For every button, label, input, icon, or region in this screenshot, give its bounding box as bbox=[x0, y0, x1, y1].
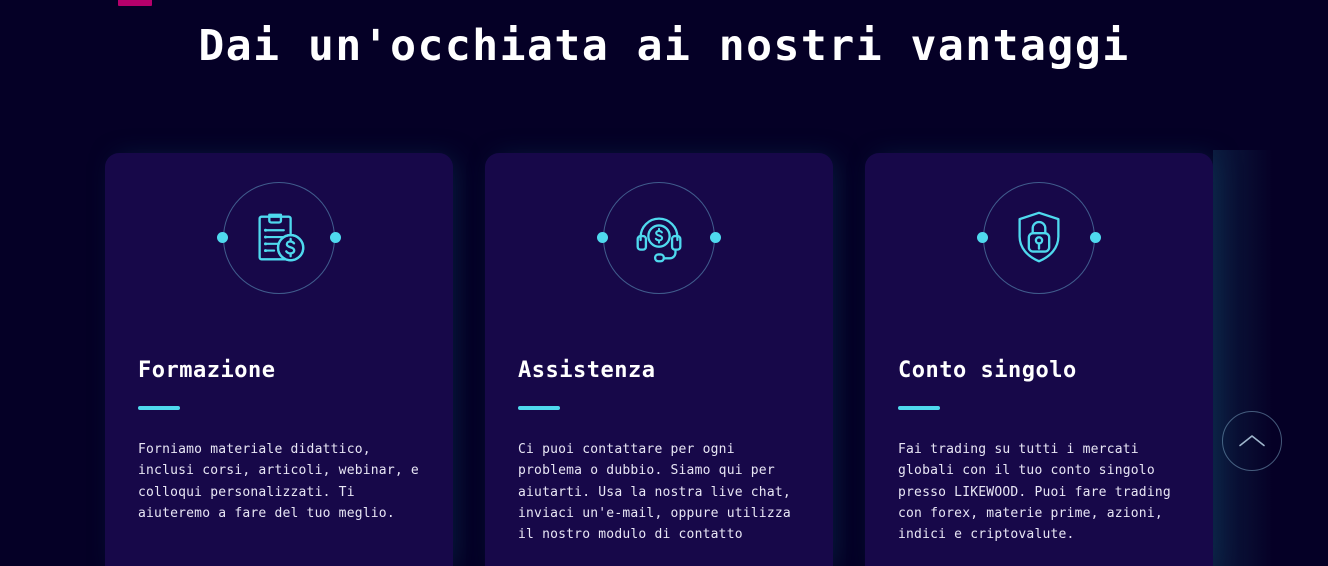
card-title: Conto singolo bbox=[898, 357, 1180, 385]
benefit-card-formazione[interactable]: Formazione Forniamo materiale didattico,… bbox=[105, 153, 453, 566]
ring-dot-right bbox=[710, 232, 721, 243]
benefit-card-conto-singolo[interactable]: Conto singolo Fai trading su tutti i mer… bbox=[865, 153, 1213, 566]
benefits-card-row: Formazione Forniamo materiale didattico,… bbox=[105, 153, 1215, 566]
ring-dot-left bbox=[217, 232, 228, 243]
card-body-text: Forniamo materiale didattico, inclusi co… bbox=[138, 439, 424, 524]
edge-glow bbox=[1213, 150, 1273, 566]
card-body-text: Ci puoi contattare per ogni problema o d… bbox=[518, 439, 804, 545]
document-dollar-icon bbox=[248, 207, 310, 269]
shield-lock-icon bbox=[1008, 207, 1070, 269]
scroll-to-top-button[interactable] bbox=[1222, 411, 1282, 471]
page-title: Dai un'occhiata ai nostri vantaggi bbox=[0, 18, 1328, 74]
card-title: Assistenza bbox=[518, 357, 800, 385]
icon-orb bbox=[594, 175, 724, 309]
decorative-accent-bar bbox=[118, 0, 152, 6]
card-title: Formazione bbox=[138, 357, 420, 385]
card-divider bbox=[138, 406, 180, 410]
benefit-card-assistenza[interactable]: Assistenza Ci puoi contattare per ogni p… bbox=[485, 153, 833, 566]
ring-dot-right bbox=[1090, 232, 1101, 243]
ring-dot-left bbox=[977, 232, 988, 243]
ring-dot-left bbox=[597, 232, 608, 243]
headset-support-icon bbox=[628, 207, 690, 269]
ring-dot-right bbox=[330, 232, 341, 243]
chevron-up-icon bbox=[1237, 432, 1267, 450]
icon-orb bbox=[214, 175, 344, 309]
card-divider bbox=[518, 406, 560, 410]
card-divider bbox=[898, 406, 940, 410]
card-body-text: Fai trading su tutti i mercati globali c… bbox=[898, 439, 1184, 545]
icon-orb bbox=[974, 175, 1104, 309]
